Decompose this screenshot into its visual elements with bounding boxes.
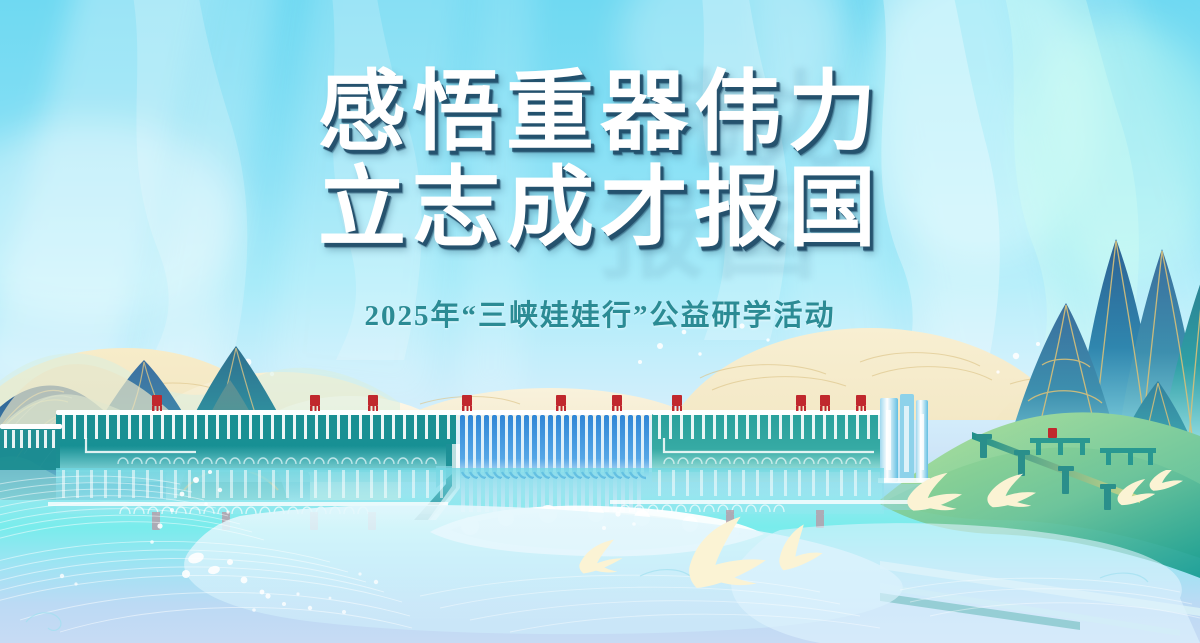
headline-line-1: 感悟重器伟力	[0, 64, 1200, 160]
swallow-icon	[689, 517, 766, 588]
subtitle: 2025年“三峡娃娃行”公益研学活动	[0, 292, 1200, 334]
swallow-icon	[779, 524, 822, 570]
flying-swallows	[0, 470, 1200, 643]
headline-block: 感悟重器伟力 立志成才报国	[0, 64, 1200, 256]
swallow-icon	[1150, 470, 1183, 491]
swallow-over-hill	[900, 470, 1020, 530]
poster-banner: 伟力 报国	[0, 0, 1200, 643]
swallow-icon	[579, 540, 622, 574]
right-shore-structures	[1030, 438, 1156, 465]
swallow-icon	[907, 473, 962, 511]
river-water	[0, 470, 1200, 643]
headline-line-2: 立志成才报国	[0, 160, 1200, 256]
swallow-icon	[1118, 479, 1156, 505]
